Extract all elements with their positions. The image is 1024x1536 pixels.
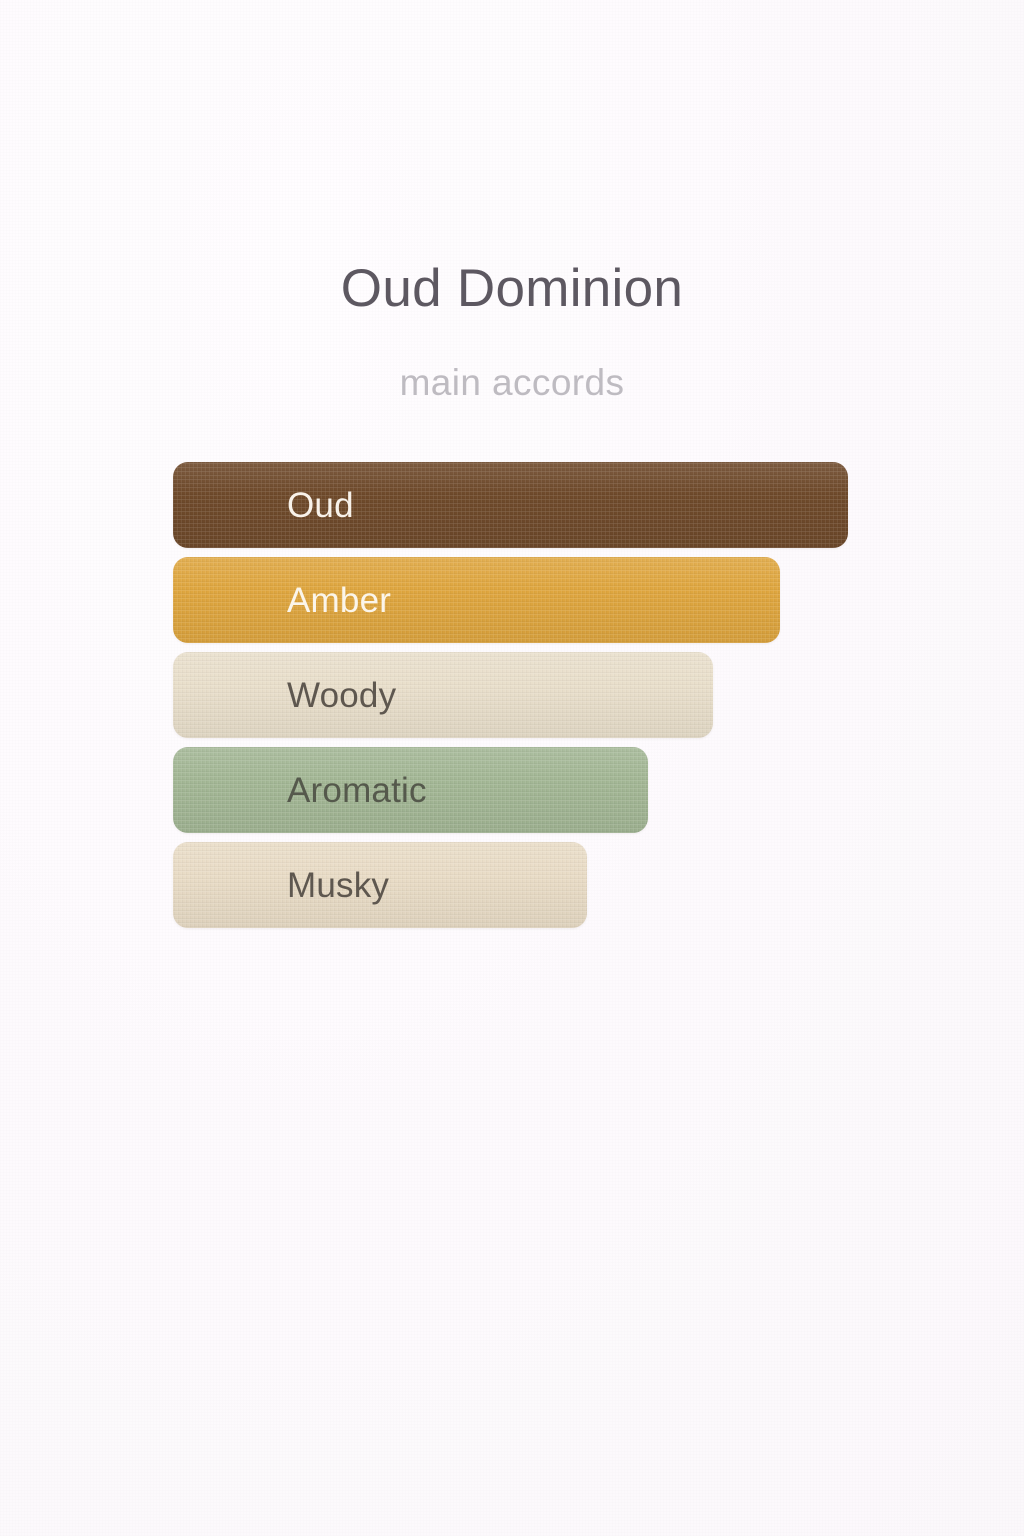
accord-bar-amber[interactable]: [173, 557, 780, 643]
accord-label-amber: Amber: [287, 557, 391, 643]
accord-chart-card: Oud Dominion main accords Oud Amber Wood…: [0, 0, 1024, 1536]
page-title: Oud Dominion: [0, 262, 1024, 315]
accord-bar-oud[interactable]: [173, 462, 848, 548]
accord-label-oud: Oud: [287, 462, 354, 548]
page-subtitle: main accords: [0, 364, 1024, 401]
accord-label-aromatic: Aromatic: [287, 747, 427, 833]
accord-bar-chart: Oud Amber Woody Aromatic Musky: [173, 462, 933, 937]
accord-bar-woody[interactable]: [173, 652, 713, 738]
accord-row: Woody: [173, 652, 933, 738]
accord-label-musky: Musky: [287, 842, 389, 928]
accord-label-woody: Woody: [287, 652, 396, 738]
accord-row: Amber: [173, 557, 933, 643]
accord-row: Aromatic: [173, 747, 933, 833]
accord-row: Musky: [173, 842, 933, 928]
accord-row: Oud: [173, 462, 933, 548]
